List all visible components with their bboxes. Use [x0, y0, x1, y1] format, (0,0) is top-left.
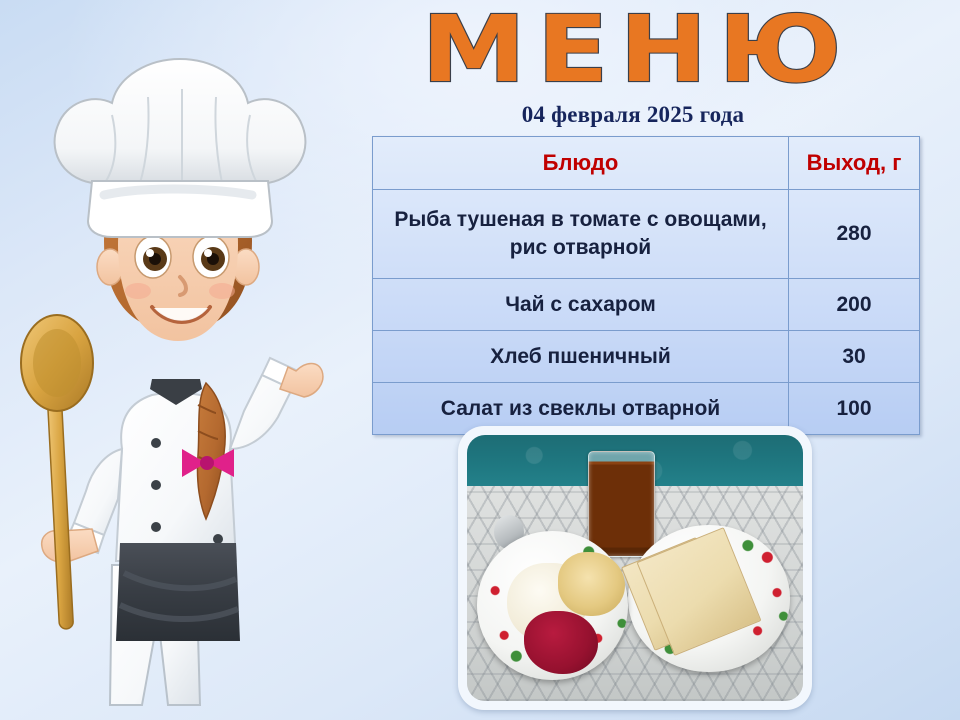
cell-yield: 280 [789, 190, 920, 279]
cell-dish: Хлеб пшеничный [373, 331, 789, 383]
cell-yield: 200 [789, 279, 920, 331]
wooden-spoon-icon [21, 315, 93, 629]
coat-button [213, 534, 223, 544]
table-row: Чай с сахаром 200 [373, 279, 920, 331]
column-header-dish: Блюдо [373, 137, 789, 190]
cell-yield: 30 [789, 331, 920, 383]
table-row: Рыба тушеная в томате с овощами, рис отв… [373, 190, 920, 279]
coat-button [151, 480, 161, 490]
column-header-yield: Выход, г [789, 137, 920, 190]
menu-table: Блюдо Выход, г Рыба тушеная в томате с о… [372, 136, 920, 435]
coat-button [151, 438, 161, 448]
table-header-row: Блюдо Выход, г [373, 137, 920, 190]
cell-yield: 100 [789, 383, 920, 435]
chef-apron [116, 543, 240, 641]
cell-dish: Чай с сахаром [373, 279, 789, 331]
chef-hat [55, 59, 306, 237]
meal-photo-image [467, 435, 803, 701]
menu-date: 04 февраля 2025 года [372, 102, 894, 128]
page-title: МЕНЮ [289, 1, 960, 99]
table-row: Хлеб пшеничный 30 [373, 331, 920, 383]
menu-slide: МЕНЮ 04 февраля 2025 года Блюдо Выход, г… [0, 0, 960, 720]
photo-beet-salad [524, 611, 598, 675]
photo-fish [558, 552, 625, 616]
meal-photo [458, 426, 812, 710]
chef-illustration [0, 45, 360, 720]
coat-button [151, 522, 161, 532]
photo-tea-glass [588, 451, 655, 557]
cell-dish: Рыба тушеная в томате с овощами, рис отв… [373, 190, 789, 279]
